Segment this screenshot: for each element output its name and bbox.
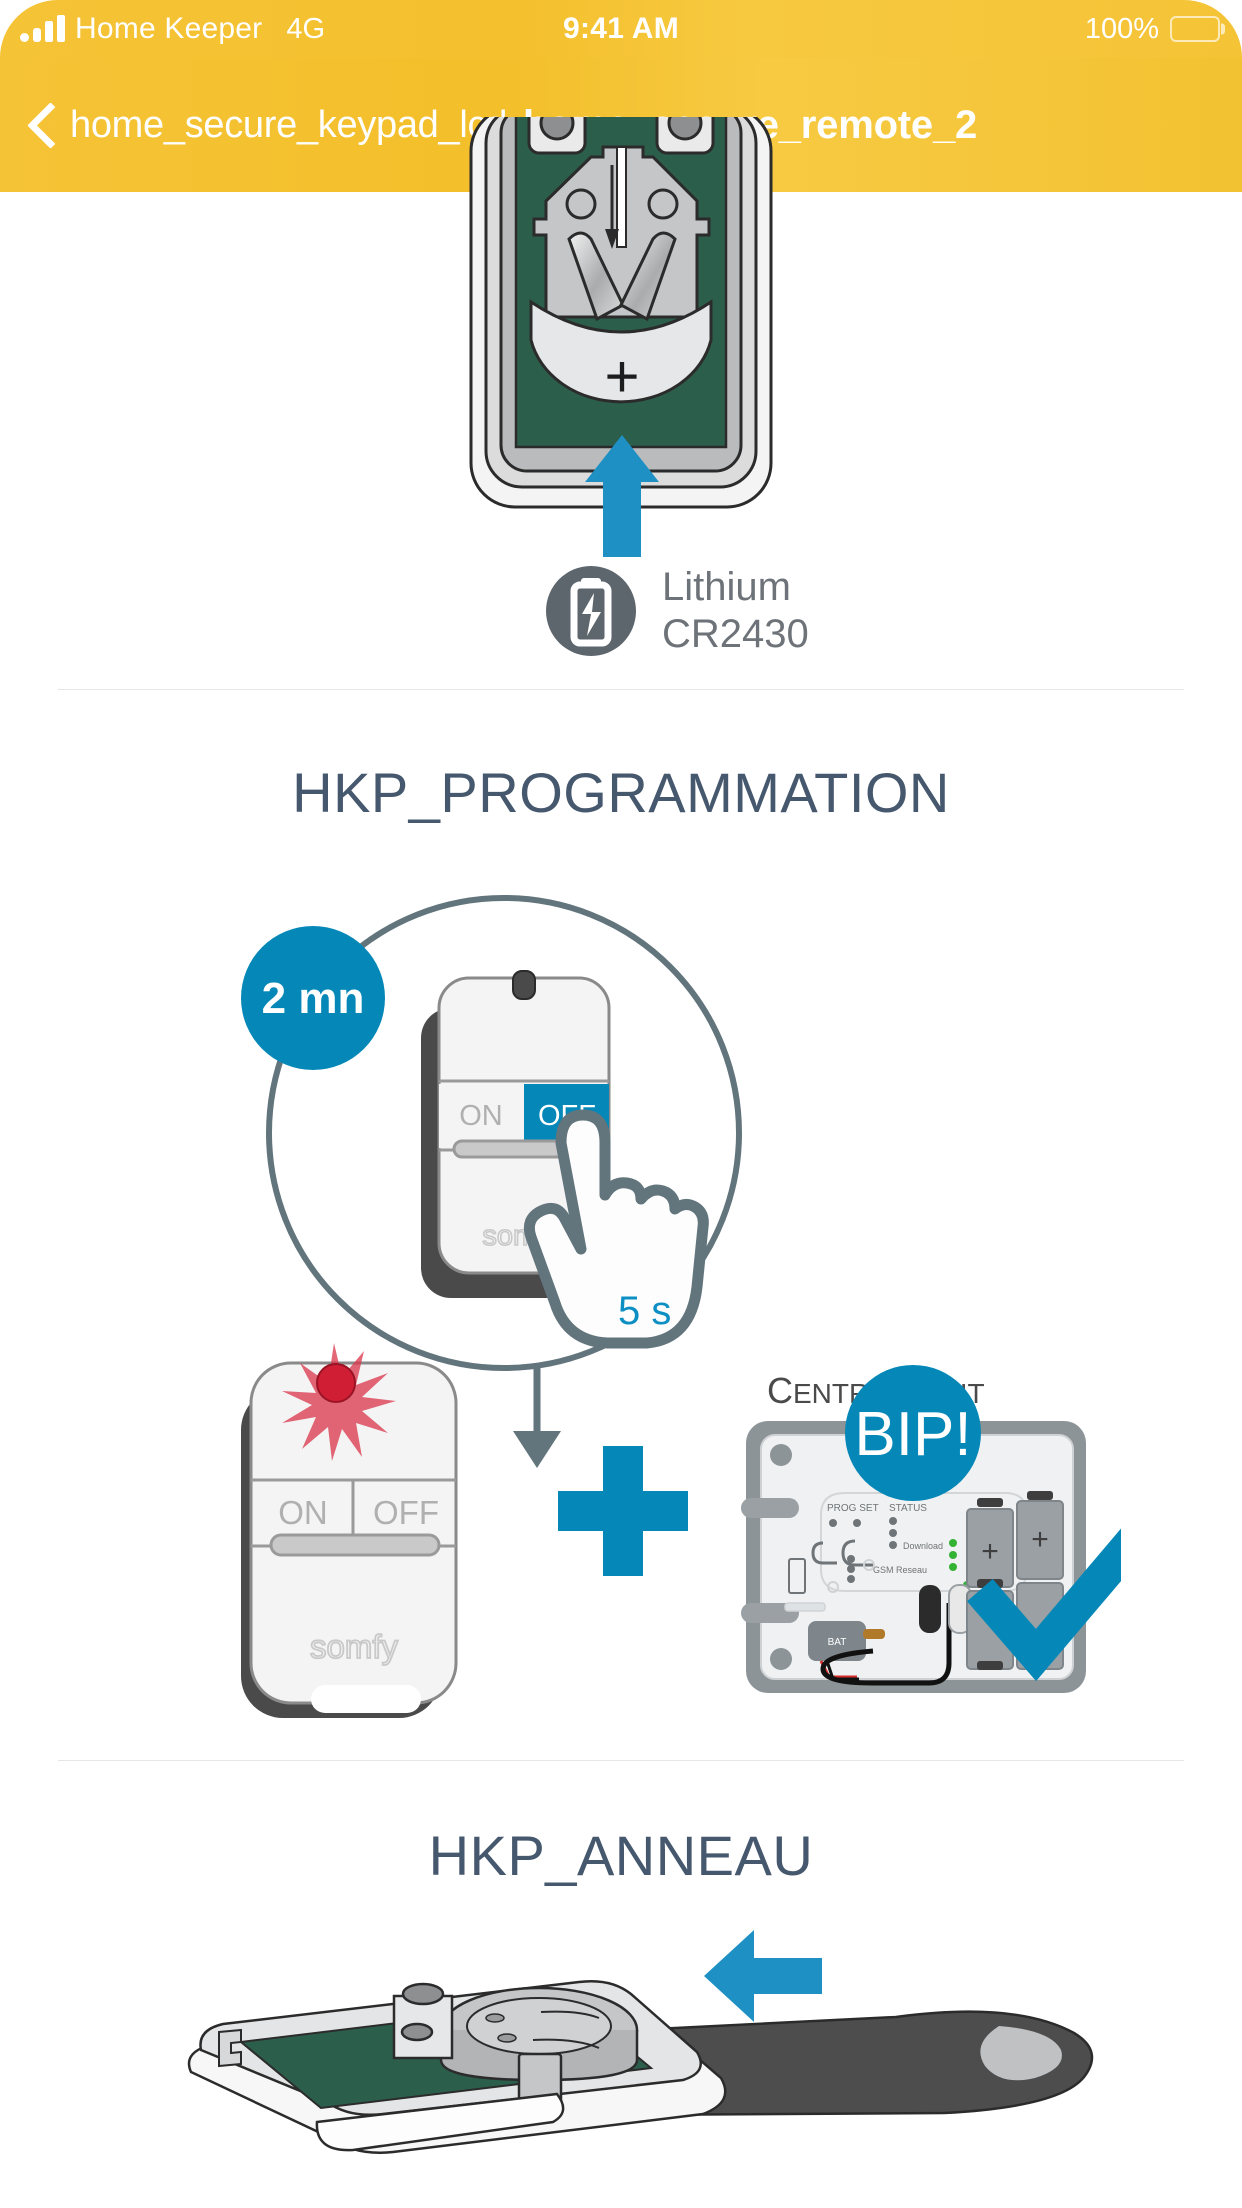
svg-text:+: +: [981, 1535, 999, 1568]
ring-removal-illustration: [141, 1922, 1101, 2192]
svg-text:BAT: BAT: [828, 1637, 847, 1648]
screw-block: [394, 1984, 452, 2058]
arrow-left-icon: [704, 1930, 822, 2022]
svg-text:+: +: [1031, 1523, 1049, 1556]
section-title-anneau: HKP_ANNEAU: [0, 1761, 1242, 1888]
remote-device-blinking: ON OFF somfy: [241, 1343, 456, 1718]
remote2-brand-label: somfy: [310, 1628, 399, 1665]
content-scroll-area[interactable]: +: [0, 192, 1242, 2208]
plus-sign-icon: [558, 1446, 688, 1576]
beep-badge-label: BIP!: [854, 1400, 971, 1469]
svg-text:PROG SET: PROG SET: [827, 1503, 879, 1514]
polarity-plus-label: +: [604, 343, 639, 410]
section-battery-insert: +: [0, 192, 1242, 689]
battery-type-row: Lithium CR2430: [546, 564, 809, 658]
remote-battery-compartment-illustration: +: [341, 117, 901, 617]
remote-button-on-label: ON: [459, 1100, 503, 1132]
section-title-programmation: HKP_PROGRAMMATION: [0, 690, 1242, 825]
status-bar: Home Keeper 4G 9:41 AM 100%: [0, 0, 1242, 58]
phone-screen: Home Keeper 4G 9:41 AM 100% home_secure_…: [0, 0, 1242, 2208]
battery-percent-label: 100%: [1085, 13, 1159, 46]
chevron-left-icon: [30, 102, 56, 148]
battery-lithium-icon: [546, 566, 636, 656]
battery-type-line2: CR2430: [662, 611, 809, 658]
status-bar-clock: 9:41 AM: [0, 12, 1242, 46]
beep-badge: BIP!: [845, 1365, 981, 1501]
svg-text:STATUS: STATUS: [889, 1503, 927, 1514]
svg-text:GSM Reseau: GSM Reseau: [873, 1565, 927, 1575]
timer-badge-label: 2 mn: [262, 974, 365, 1023]
programmation-illustration: ON OFF somfy 5 s 2: [121, 843, 1121, 1723]
timer-badge: 2 mn: [241, 926, 385, 1070]
status-bar-right: 100%: [1085, 13, 1220, 46]
hold-duration-label: 5 s: [618, 1289, 671, 1333]
section-anneau: HKP_ANNEAU: [0, 1761, 1242, 2191]
flow-arrow-down-icon: [513, 1366, 561, 1468]
remote2-button-on-label: ON: [278, 1494, 328, 1531]
remote2-button-off-label: OFF: [373, 1494, 439, 1531]
section-programmation: HKP_PROGRAMMATION ON OFF: [0, 690, 1242, 1760]
battery-type-line1: Lithium: [662, 564, 809, 611]
svg-text:Download: Download: [903, 1541, 943, 1551]
battery-full-icon: [1170, 16, 1220, 42]
